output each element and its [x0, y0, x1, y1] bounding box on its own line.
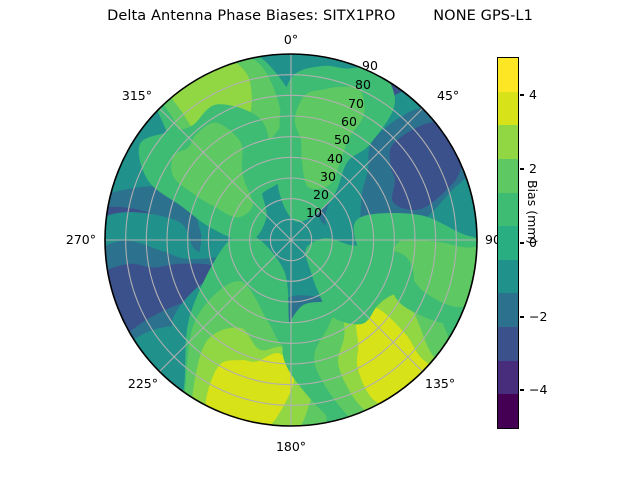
figure-canvas: Delta Antenna Phase Biases: SITX1PRO NON…	[0, 0, 640, 480]
colorbar-band	[498, 58, 518, 92]
radial-tick-label: 40	[327, 151, 343, 166]
angular-tick-label: 180°	[0, 439, 582, 454]
colorbar[interactable]	[497, 57, 519, 429]
angular-tick-label: 0°	[0, 32, 582, 47]
polar-plot[interactable]: 0°45°90135°180°225°270°315° 102030405060…	[0, 0, 520, 480]
colorbar-band	[498, 159, 518, 193]
colorbar-tick-mark	[520, 168, 524, 169]
colorbar-tick-mark	[520, 242, 524, 243]
colorbar-band	[498, 193, 518, 227]
radial-tick-label: 10	[306, 205, 322, 220]
colorbar-band	[498, 361, 518, 395]
colorbar-axis-label: Bias (mm)	[525, 180, 540, 244]
colorbar-tick-label: −2	[529, 309, 547, 324]
colorbar-band	[498, 327, 518, 361]
angular-tick-label: 45°	[437, 88, 459, 103]
colorbar-band	[498, 125, 518, 159]
colorbar-band	[498, 394, 518, 428]
radial-tick-label: 80	[355, 77, 371, 92]
polar-grid	[105, 54, 477, 426]
radial-tick-label: 20	[313, 187, 329, 202]
colorbar-band	[498, 92, 518, 126]
colorbar-band	[498, 226, 518, 260]
colorbar-band	[498, 260, 518, 294]
colorbar-tick-label: 4	[529, 87, 537, 102]
colorbar-tick-label: −4	[529, 382, 547, 397]
angular-tick-label: 315°	[0, 88, 152, 103]
angular-tick-label: 225°	[0, 376, 158, 391]
radial-tick-label: 70	[348, 96, 364, 111]
colorbar-tick-label: 2	[529, 161, 537, 176]
radial-tick-label: 90	[362, 58, 378, 73]
radial-tick-label: 50	[334, 132, 350, 147]
angular-tick-label: 270°	[0, 232, 96, 247]
angular-tick-label: 135°	[425, 376, 455, 391]
radial-tick-label: 60	[341, 114, 357, 129]
colorbar-tick-mark	[520, 94, 524, 95]
colorbar-band	[498, 293, 518, 327]
colorbar-tick-mark	[520, 316, 524, 317]
colorbar-tick-mark	[520, 389, 524, 390]
radial-tick-label: 30	[320, 169, 336, 184]
